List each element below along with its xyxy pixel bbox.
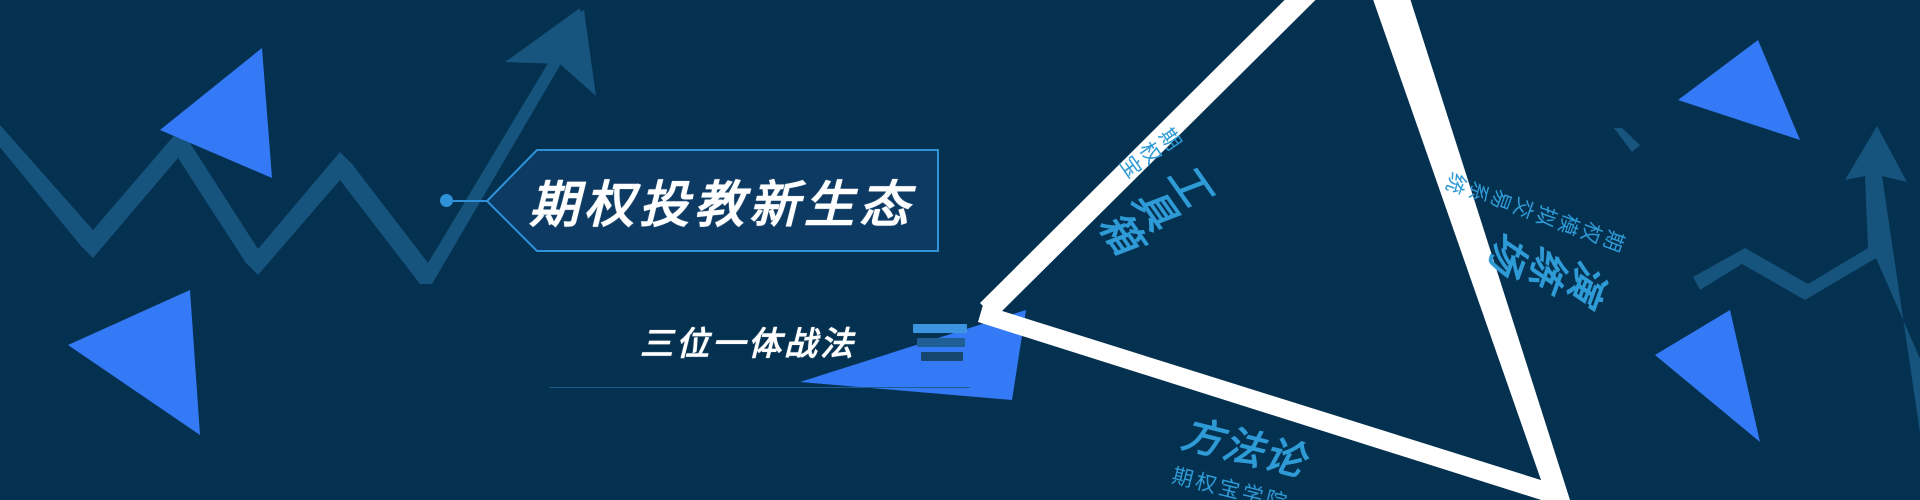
- subtitle-row: 三位一体战法: [640, 318, 940, 364]
- title-panel: 期权投教新生态: [485, 148, 940, 253]
- page-title: 期权投教新生态: [485, 148, 940, 253]
- background-decoration-layer: [0, 0, 1920, 500]
- subtitle-text: 三位一体战法: [640, 317, 856, 365]
- stacked-bar-1: [913, 324, 967, 333]
- background-fill: [0, 0, 1920, 500]
- stacked-bar-3: [921, 352, 963, 361]
- stacked-bar-2: [917, 338, 965, 347]
- promo-banner: 期权投教新生态 三位一体战法 期权宝 工具箱 期权模拟交易系统 演练场 方法论 …: [0, 0, 1920, 500]
- stacked-bars-icon: [913, 324, 983, 366]
- subtitle-divider: [550, 387, 970, 388]
